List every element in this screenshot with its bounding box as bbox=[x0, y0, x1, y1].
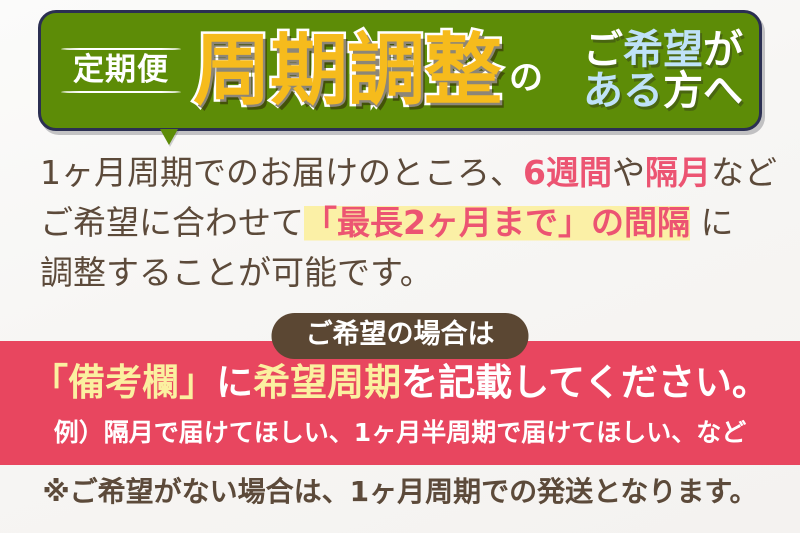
body-line1-seg5: など bbox=[711, 153, 777, 192]
body-line2-seg3: に bbox=[690, 203, 734, 242]
instruction-headline: 「備考欄」に希望周期を記載してください。 bbox=[0, 363, 800, 404]
wish-line2-seg2: 方へ bbox=[663, 68, 743, 114]
wish-line2-seg1: ある bbox=[583, 68, 663, 114]
instruction-seg4: を記載してください。 bbox=[401, 361, 769, 404]
body-line1-highlight-6weeks: 6週間 bbox=[523, 153, 612, 192]
wish-callout: ご希望が ある方へ bbox=[583, 30, 743, 112]
wish-line1-seg3: が bbox=[703, 27, 743, 73]
title-particle: の bbox=[509, 61, 543, 95]
header-banner: 定期便 周期調整 の ご希望が ある方へ bbox=[38, 10, 762, 131]
speech-bubble-tail bbox=[160, 129, 178, 145]
badge-rule-bottom bbox=[61, 91, 181, 93]
header-content-row: 定期便 周期調整 の ご希望が ある方へ bbox=[41, 13, 759, 128]
body-line1-highlight-bimonthly: 隔月 bbox=[645, 153, 711, 192]
wish-line1-seg2: 希望 bbox=[623, 27, 703, 73]
body-line2-seg1: ご希望に合わせて bbox=[40, 203, 304, 242]
body-line1-seg1: 1ヶ月周期でのお届けのところ、 bbox=[40, 153, 523, 192]
wish-callout-line1: ご希望が bbox=[583, 30, 743, 71]
instruction-band: 「備考欄」に希望周期を記載してください。 例）隔月で届けてほしい、1ヶ月半周期で… bbox=[0, 341, 800, 465]
request-case-pill: ご希望の場合は bbox=[272, 313, 529, 359]
body-line2-highlight-maxinterval: 「最長2ヶ月まで」の間隔 bbox=[304, 203, 690, 242]
instruction-seg2: に bbox=[216, 361, 253, 404]
wish-callout-line2: ある方へ bbox=[583, 71, 743, 112]
instruction-seg-desired-cycle: 希望周期 bbox=[253, 361, 401, 404]
body-line-1: 1ヶ月周期でのお届けのところ、6週間や隔月など bbox=[40, 148, 760, 198]
instruction-example: 例）隔月で届けてほしい、1ヶ月半周期で届けてほしい、など bbox=[0, 419, 800, 447]
badge-rule-top bbox=[61, 48, 181, 50]
wish-line1-seg1: ご bbox=[583, 27, 623, 73]
instruction-seg-remarks-field: 「備考欄」 bbox=[31, 361, 216, 404]
body-line-3: 調整することが可能です。 bbox=[40, 248, 760, 298]
footer-note: ※ご希望がない場合は、1ヶ月周期での発送となります。 bbox=[0, 477, 800, 508]
body-paragraph: 1ヶ月周期でのお届けのところ、6週間や隔月など ご希望に合わせて「最長2ヶ月まで… bbox=[40, 148, 760, 298]
subscription-badge: 定期便 bbox=[61, 48, 181, 93]
body-line-2: ご希望に合わせて「最長2ヶ月まで」の間隔 に bbox=[40, 198, 760, 248]
page-title: 周期調整 bbox=[193, 32, 501, 110]
body-line1-seg3: や bbox=[612, 153, 645, 192]
badge-label: 定期便 bbox=[73, 55, 169, 86]
